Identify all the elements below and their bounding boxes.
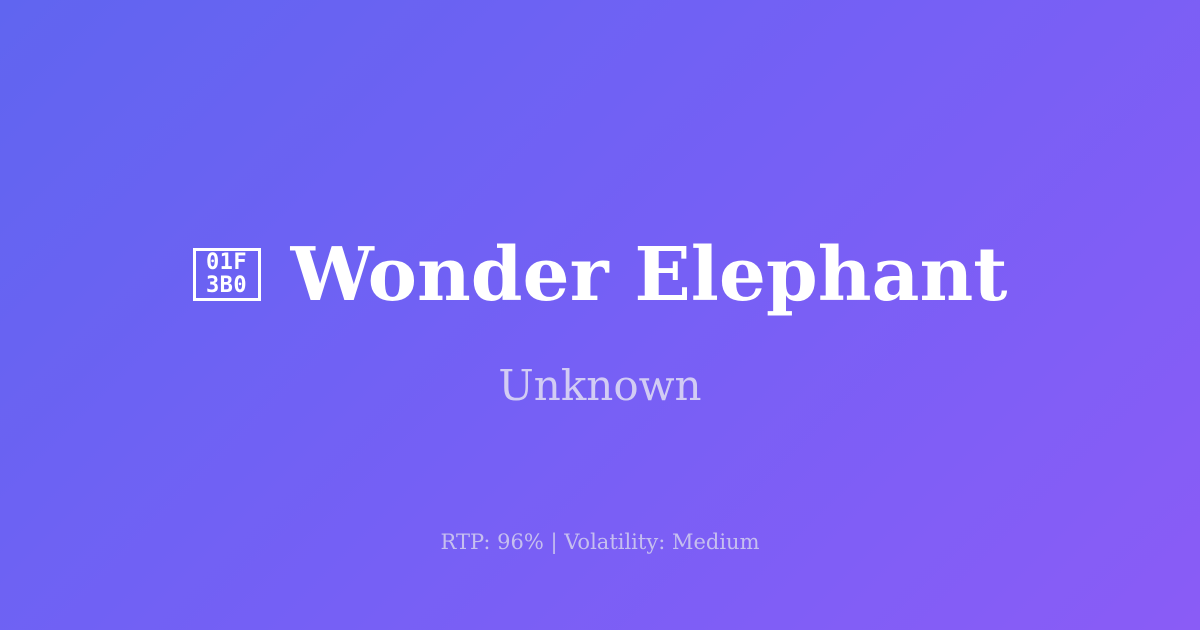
- page-title: Wonder Elephant: [291, 232, 1008, 318]
- game-preview-card: 01F 3B0 Wonder Elephant Unknown RTP: 96%…: [0, 0, 1200, 630]
- hexbox-codepoint-top: 01F: [206, 251, 247, 274]
- hexbox-codepoint-bottom: 3B0: [206, 274, 247, 297]
- game-stats-line: RTP: 96% | Volatility: Medium: [0, 528, 1200, 556]
- title-row: 01F 3B0 Wonder Elephant: [0, 232, 1200, 318]
- slot-machine-emoji-missing-glyph-icon: 01F 3B0: [193, 248, 261, 301]
- game-provider-subtitle: Unknown: [0, 360, 1200, 412]
